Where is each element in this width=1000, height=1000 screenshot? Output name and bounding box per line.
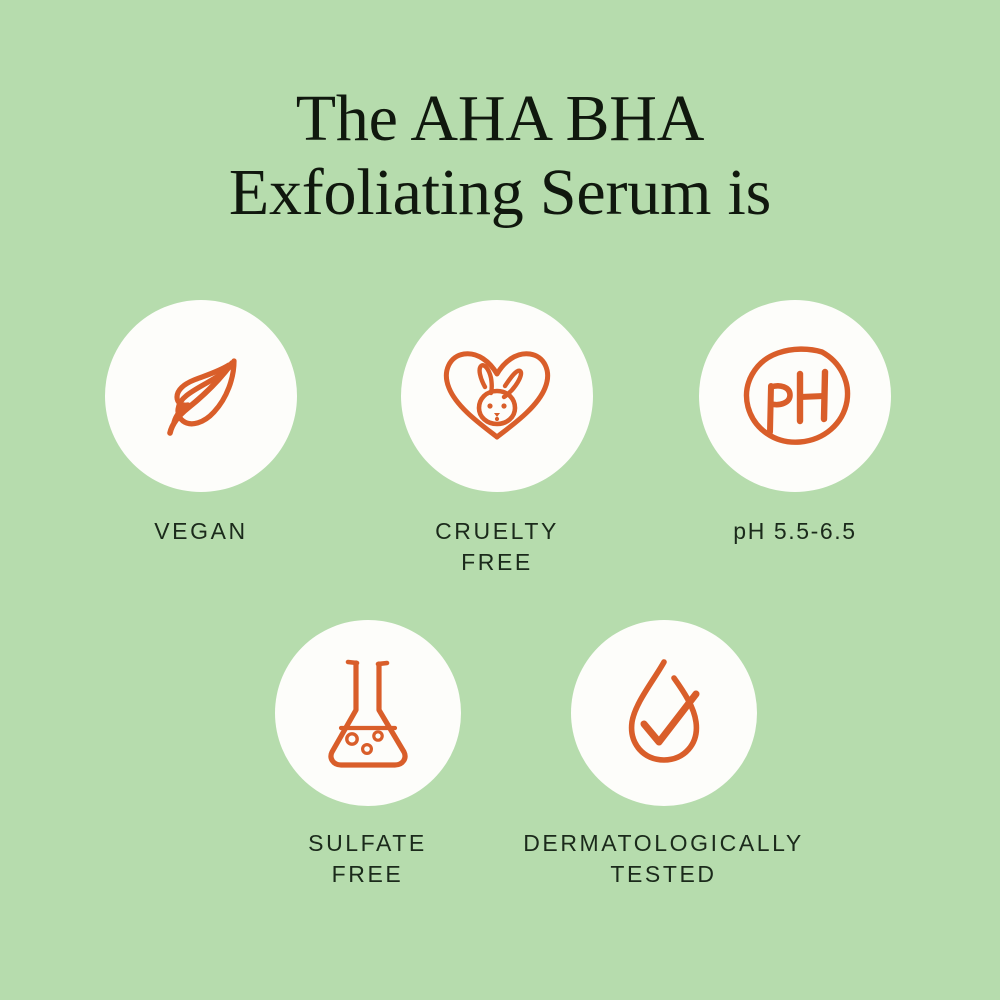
badge-label-cruelty-free: CRUELTY FREE (435, 516, 559, 578)
badge-circle-vegan (105, 300, 297, 492)
badge-circle-ph (699, 300, 891, 492)
badge-row-2: SULFATE FREE DERMATOLOGICALLY TESTED (0, 620, 1000, 890)
title-line-2: Exfoliating Serum is (0, 156, 1000, 230)
badge-label-vegan: VEGAN (154, 516, 248, 547)
heart-bunny-icon (433, 336, 561, 456)
badge-label-dermatologically-tested: DERMATOLOGICALLY TESTED (523, 828, 804, 890)
flask-icon (308, 648, 428, 778)
badge-ph: pH 5.5-6.5 (647, 300, 943, 578)
droplet-check-icon (604, 650, 724, 776)
ph-circle-icon (730, 331, 860, 461)
badge-row-1: VEGAN (0, 300, 1000, 578)
promo-graphic: The AHA BHA Exfoliating Serum is (0, 0, 1000, 1000)
badge-dermatologically-tested: DERMATOLOGICALLY TESTED (516, 620, 812, 890)
badge-sulfate-free: SULFATE FREE (220, 620, 516, 890)
badge-circle-sulfate-free (275, 620, 461, 806)
badge-vegan: VEGAN (53, 300, 349, 578)
badge-cruelty-free: CRUELTY FREE (349, 300, 645, 578)
badge-circle-cruelty-free (401, 300, 593, 492)
title-line-1: The AHA BHA (0, 82, 1000, 156)
badge-label-sulfate-free: SULFATE FREE (308, 828, 427, 890)
page-title: The AHA BHA Exfoliating Serum is (0, 82, 1000, 230)
badge-label-ph: pH 5.5-6.5 (733, 516, 856, 547)
badge-circle-dermatologically-tested (571, 620, 757, 806)
leaf-icon (141, 336, 261, 456)
